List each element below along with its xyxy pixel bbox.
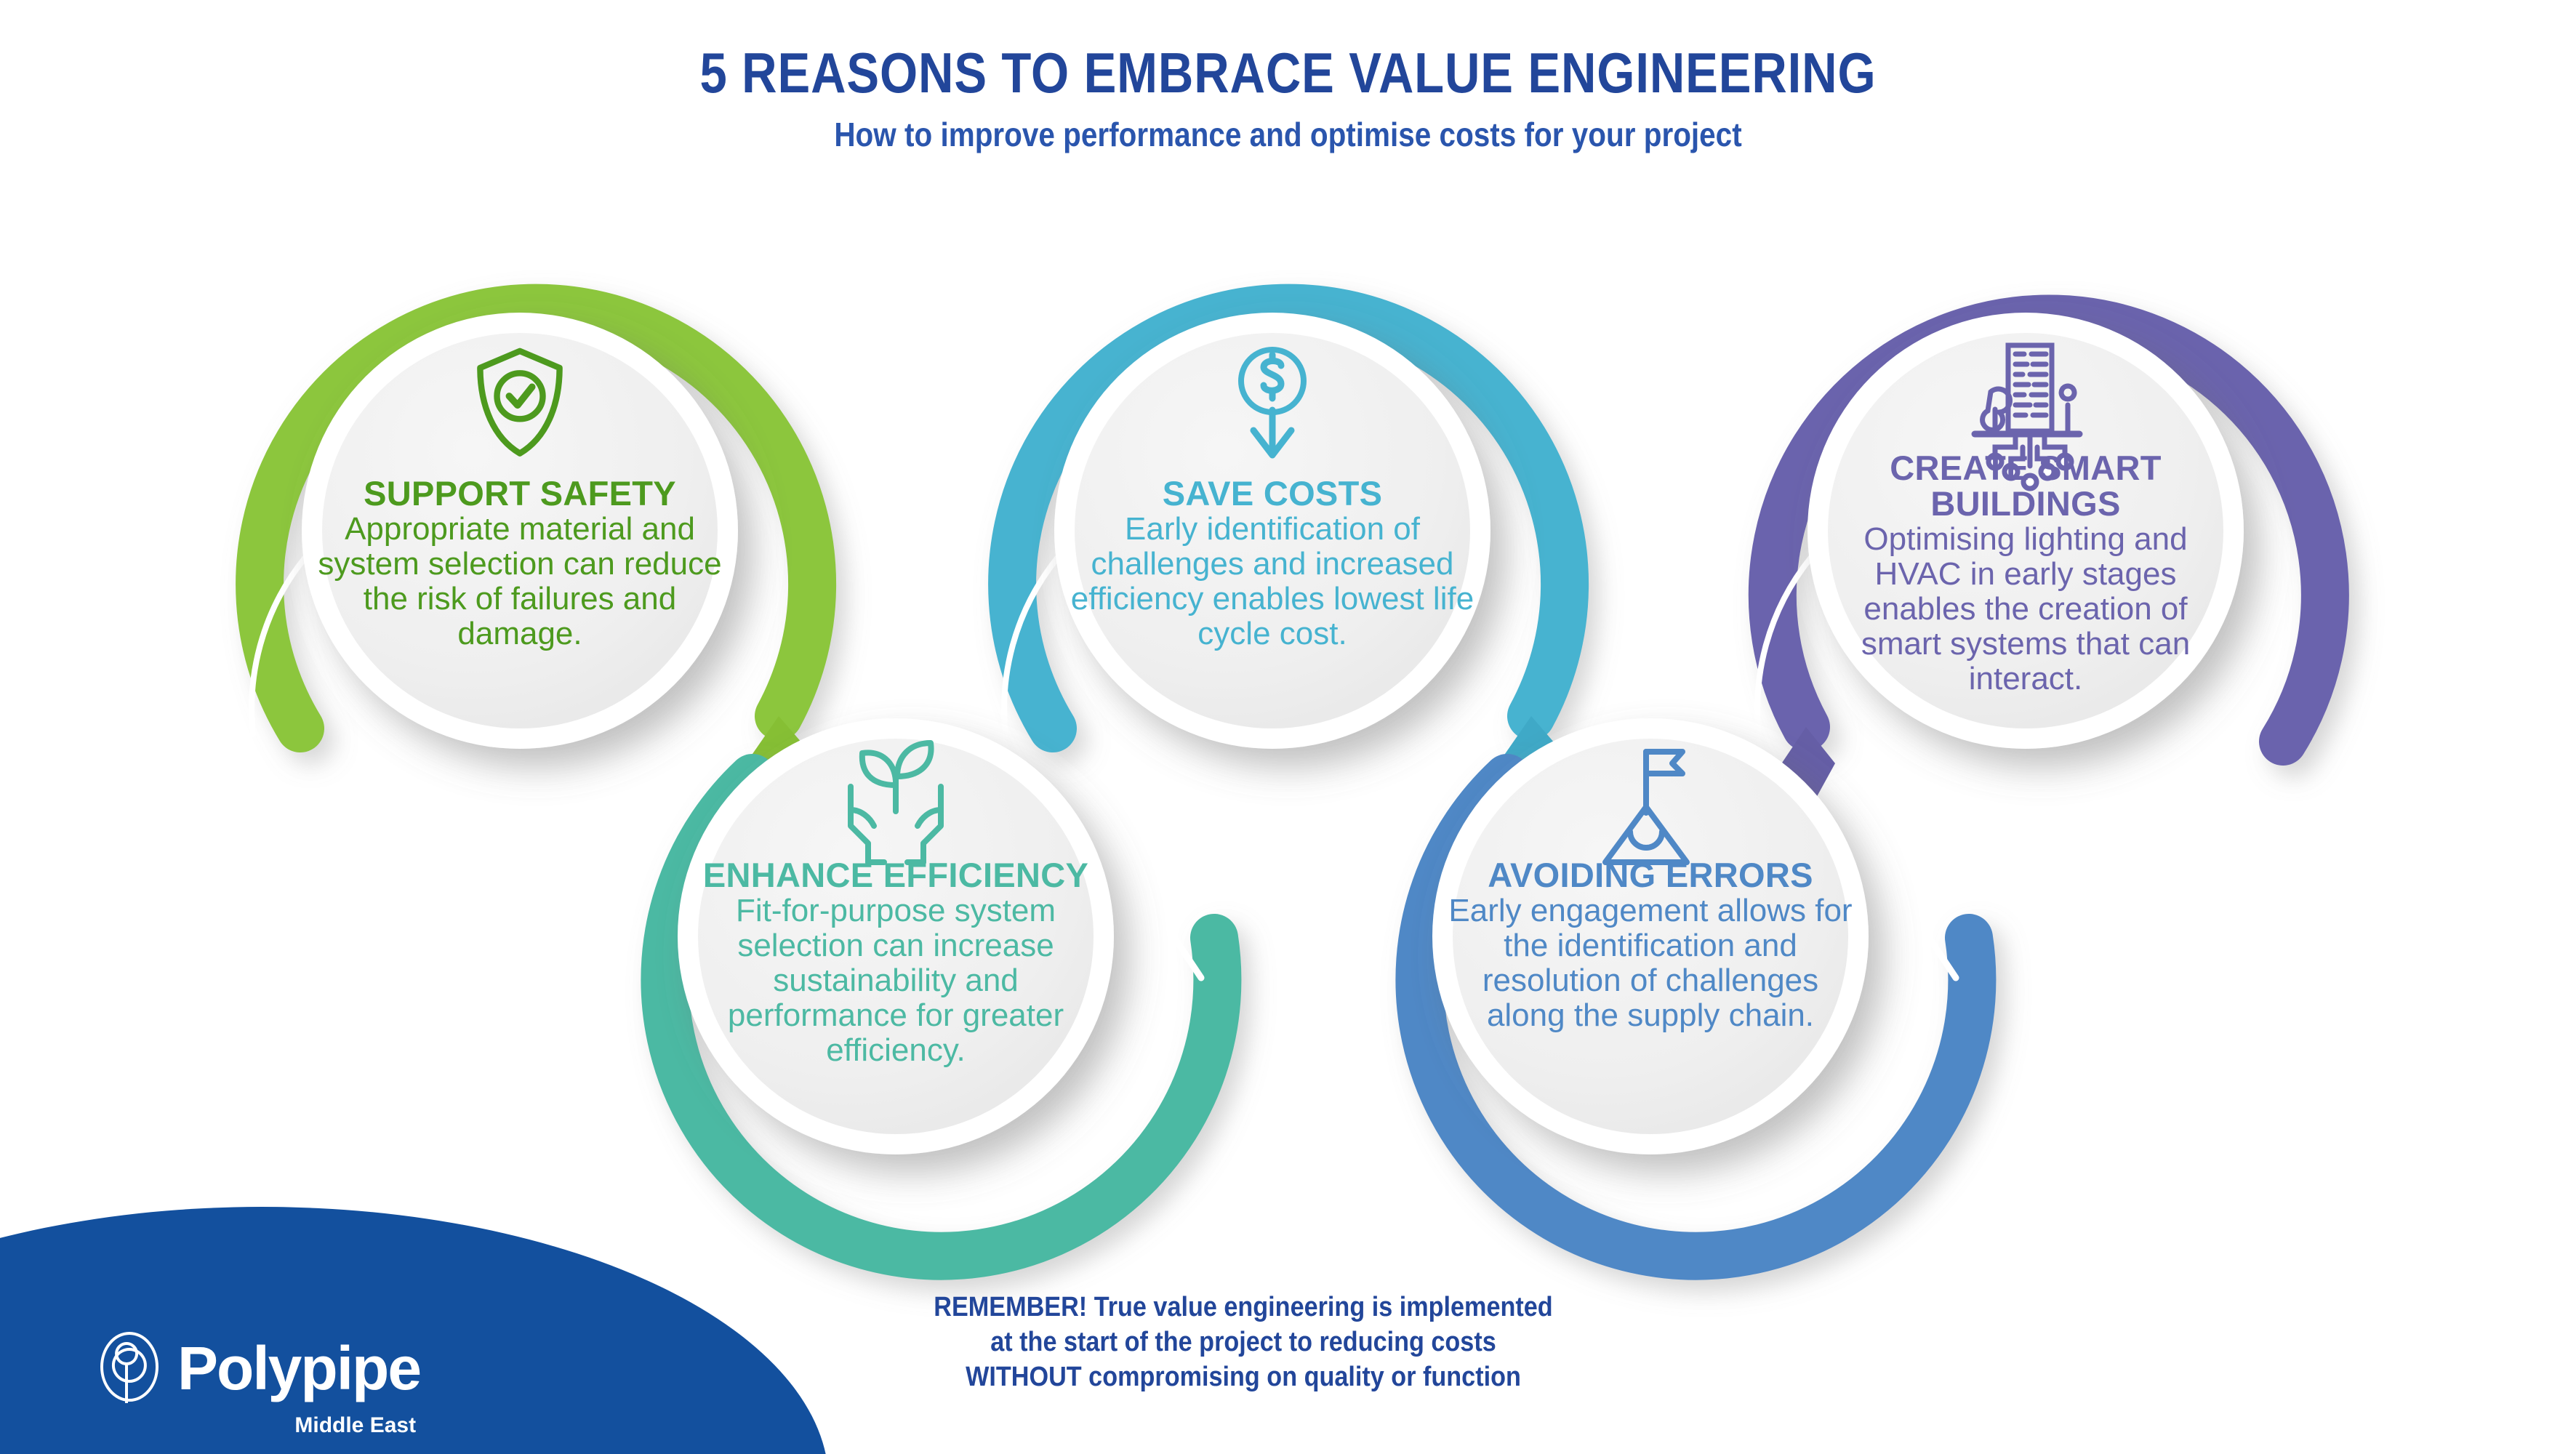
step-body: Appropriate material and system selectio… [316, 512, 723, 651]
infographic-canvas: 5 REASONS TO EMBRACE VALUE ENGINEERING H… [0, 0, 2576, 1452]
step-title: AVOIDING ERRORS [1447, 858, 1854, 893]
step-body: Early identification of challenges and i… [1069, 512, 1476, 651]
panel-avoiding-errors: AVOIDING ERRORS Early engagement allows … [1447, 858, 1854, 1033]
step-title: SAVE COSTS [1069, 476, 1476, 512]
logo-region: Middle East [294, 1413, 416, 1438]
footer-line-1: REMEMBER! True value engineering is impl… [779, 1290, 1708, 1325]
step-title: SUPPORT SAFETY [316, 476, 723, 512]
step-body: Optimising lighting and HVAC in early st… [1822, 522, 2229, 696]
step-body: Fit-for-purpose system selection can inc… [692, 893, 1099, 1068]
panel-enhance-efficiency: ENHANCE EFFICIENCY Fit-for-purpose syste… [692, 858, 1099, 1068]
step-title: ENHANCE EFFICIENCY [692, 858, 1099, 893]
panel-save-costs: SAVE COSTS Early identification of chall… [1069, 476, 1476, 651]
polypipe-mark-icon [95, 1330, 164, 1406]
step-title: CREATE SMART BUILDINGS [1822, 451, 2229, 522]
footer-line-3: WITHOUT compromising on quality or funct… [779, 1360, 1708, 1395]
step-body: Early engagement allows for the identifi… [1447, 893, 1854, 1033]
brand-logo: Polypipe Middle East [0, 1207, 858, 1454]
panel-create-smart-buildings: CREATE SMART BUILDINGS Optimising lighti… [1822, 451, 2229, 696]
logo-wordmark: Polypipe [177, 1333, 420, 1404]
footer-line-2: at the start of the project to reducing … [779, 1325, 1708, 1360]
panel-support-safety: SUPPORT SAFETY Appropriate material and … [316, 476, 723, 651]
footer-note: REMEMBER! True value engineering is impl… [779, 1290, 1708, 1395]
